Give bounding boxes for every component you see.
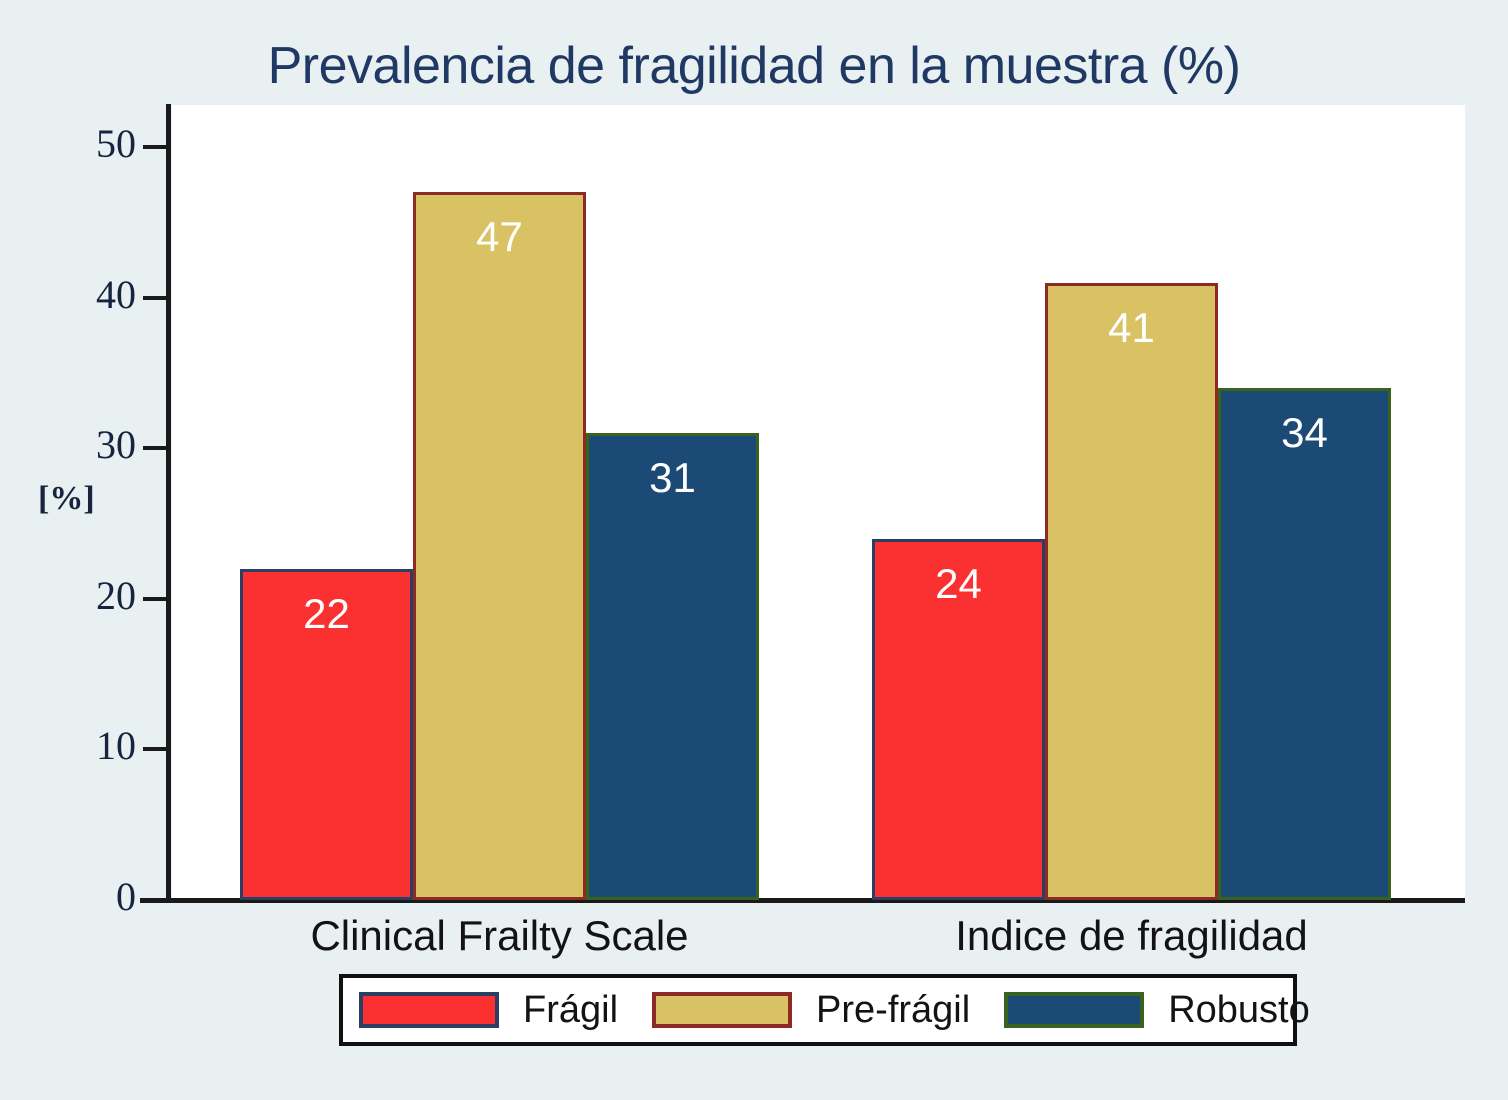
legend-swatch bbox=[652, 992, 792, 1028]
legend-swatch bbox=[359, 992, 499, 1028]
y-tick-label: 30 bbox=[40, 421, 136, 468]
legend-item[interactable]: Robusto bbox=[1004, 978, 1310, 1042]
bar-value-label: 47 bbox=[416, 213, 583, 261]
bar-value-label: 22 bbox=[243, 590, 410, 638]
page-title: Prevalencia de fragilidad en la muestra … bbox=[0, 36, 1508, 96]
y-tick-mark bbox=[143, 296, 168, 300]
y-tick-label: 20 bbox=[40, 572, 136, 619]
bar-value-label: 24 bbox=[875, 560, 1042, 608]
y-tick-mark bbox=[143, 446, 168, 450]
y-tick-label: 10 bbox=[40, 722, 136, 769]
bar[interactable]: 47 bbox=[413, 192, 586, 900]
bar[interactable]: 31 bbox=[586, 433, 759, 900]
y-axis-title: [%] bbox=[38, 480, 95, 518]
y-axis-line bbox=[166, 104, 171, 901]
bar[interactable]: 41 bbox=[1045, 283, 1218, 900]
legend-label: Frágil bbox=[523, 989, 618, 1032]
chart-legend: FrágilPre-frágilRobusto bbox=[339, 974, 1297, 1046]
bar[interactable]: 24 bbox=[872, 539, 1045, 900]
legend-item[interactable]: Frágil bbox=[359, 978, 618, 1042]
legend-swatch bbox=[1004, 992, 1144, 1028]
y-tick-mark bbox=[143, 597, 168, 601]
bar[interactable]: 22 bbox=[240, 569, 413, 900]
y-tick-label: 50 bbox=[40, 120, 136, 167]
bar-value-label: 41 bbox=[1048, 304, 1215, 352]
x-axis-category-label: Indice de fragilidad bbox=[832, 912, 1432, 960]
x-axis-category-label: Clinical Frailty Scale bbox=[200, 912, 800, 960]
y-tick-mark bbox=[143, 145, 168, 149]
bar-value-label: 34 bbox=[1221, 409, 1388, 457]
y-tick-label: 0 bbox=[40, 873, 136, 920]
legend-item[interactable]: Pre-frágil bbox=[652, 978, 970, 1042]
y-tick-mark bbox=[143, 898, 168, 902]
bar-value-label: 31 bbox=[589, 454, 756, 502]
legend-label: Robusto bbox=[1168, 989, 1310, 1032]
y-tick-mark bbox=[143, 747, 168, 751]
bar[interactable]: 34 bbox=[1218, 388, 1391, 900]
legend-label: Pre-frágil bbox=[816, 989, 970, 1032]
y-tick-label: 40 bbox=[40, 271, 136, 318]
chart-figure: Prevalencia de fragilidad en la muestra … bbox=[0, 0, 1508, 1100]
